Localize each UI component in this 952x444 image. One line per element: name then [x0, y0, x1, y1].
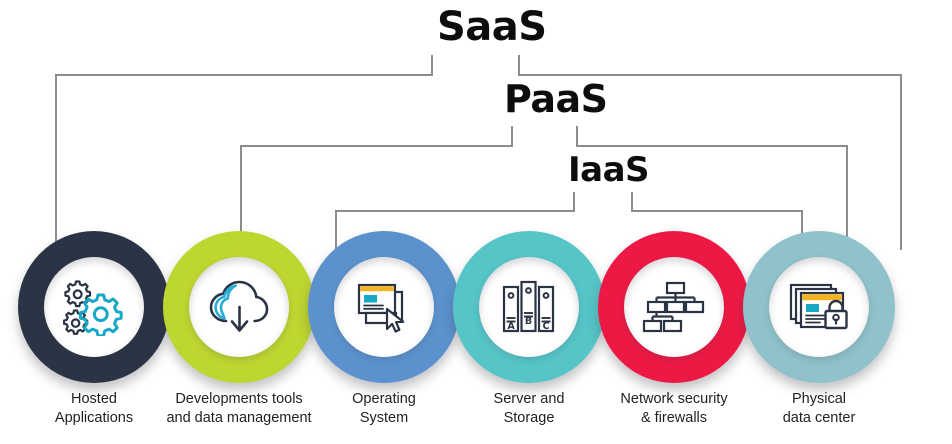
gears-icon	[44, 257, 144, 357]
window-cursor-icon	[334, 257, 434, 357]
caption-physical-data-center: Physical data center	[719, 390, 919, 428]
cloud-download-icon	[189, 257, 289, 357]
binder-label-a: A	[507, 321, 515, 332]
layer-node-server-storage[interactable]: A B C Server and Storage	[453, 231, 605, 383]
tier-label-iaas: IaaS	[568, 153, 649, 187]
bracket-saas	[56, 55, 901, 250]
tier-label-saas: SaaS	[437, 7, 547, 47]
caption-line-1: Physical	[719, 390, 919, 409]
diagram-canvas: SaaS PaaS IaaS	[0, 0, 952, 444]
binders-icon: A B C	[479, 257, 579, 357]
binder-label-b: B	[525, 316, 532, 327]
layer-node-operating-system[interactable]: Operating System	[308, 231, 460, 383]
tier-label-paas: PaaS	[504, 80, 607, 118]
caption-line-2: data center	[719, 409, 919, 428]
layer-node-row: Hosted Applications Developments tools	[0, 231, 952, 391]
binder-label-c: C	[543, 321, 550, 332]
secure-documents-icon	[769, 257, 869, 357]
layer-node-development-tools[interactable]: Developments tools and data management	[163, 231, 315, 383]
layer-node-network-security[interactable]: Network security & firewalls	[598, 231, 750, 383]
layer-node-hosted-applications[interactable]: Hosted Applications	[18, 231, 170, 383]
layer-node-physical-data-center[interactable]: Physical data center	[743, 231, 895, 383]
network-tree-icon	[624, 257, 724, 357]
